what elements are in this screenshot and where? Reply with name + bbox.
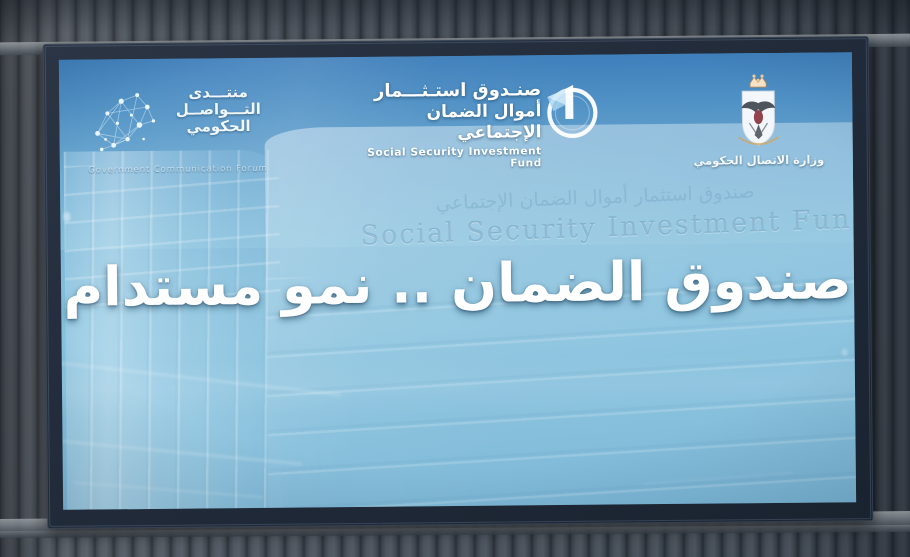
jordan-coat-of-arms-icon <box>728 73 789 152</box>
slide-headline: صندوق الضمان .. نمو مستدام <box>61 248 855 319</box>
ssif-english-text: Social Security Investment Fund <box>352 146 542 172</box>
circular-swirl-icon <box>539 79 600 142</box>
logo-social-security-investment-fund: صنـدوق استـثـــمار أموال الضمان الإجتماع… <box>349 75 600 169</box>
gcf-arabic-line-3: الحكومي <box>169 118 267 136</box>
logo-ministry-of-government-communication: وزارة الاتصال الحكومي <box>692 70 825 179</box>
presentation-slide: صندوق استثمار أموال الضمان الإجتماعي Soc… <box>59 52 856 510</box>
gcf-arabic-text: منتـــدى التـــواصــل الحكومي <box>169 84 267 136</box>
ssif-arabic-line-2: أموال الضمان الإجتماعي <box>351 101 541 145</box>
gcf-english-text: Government Communication Forum <box>88 164 268 176</box>
building-curved-tower <box>64 150 283 510</box>
logo-government-communication-forum: منتـــدى التـــواصــل الحكومي Government… <box>87 82 268 184</box>
ministry-arabic-text: وزارة الاتصال الحكومي <box>693 152 825 167</box>
logo-row: منتـــدى التـــواصــل الحكومي Government… <box>59 70 853 190</box>
screen-dust-speck-1 <box>63 212 70 222</box>
gcf-arabic-line-2: التـــواصــل <box>169 101 267 119</box>
screen-dust-speck-2 <box>842 348 848 356</box>
display-screen: صندوق استثمار أموال الضمان الإجتماعي Soc… <box>43 36 874 529</box>
photo-scene: صندوق استثمار أموال الضمان الإجتماعي Soc… <box>0 0 910 557</box>
ssif-text-block: صنـدوق استـثـــمار أموال الضمان الإجتماع… <box>351 79 542 171</box>
network-constellation-icon <box>87 87 162 160</box>
ssif-arabic-line-1: صنـدوق استـثـــمار <box>351 79 541 103</box>
